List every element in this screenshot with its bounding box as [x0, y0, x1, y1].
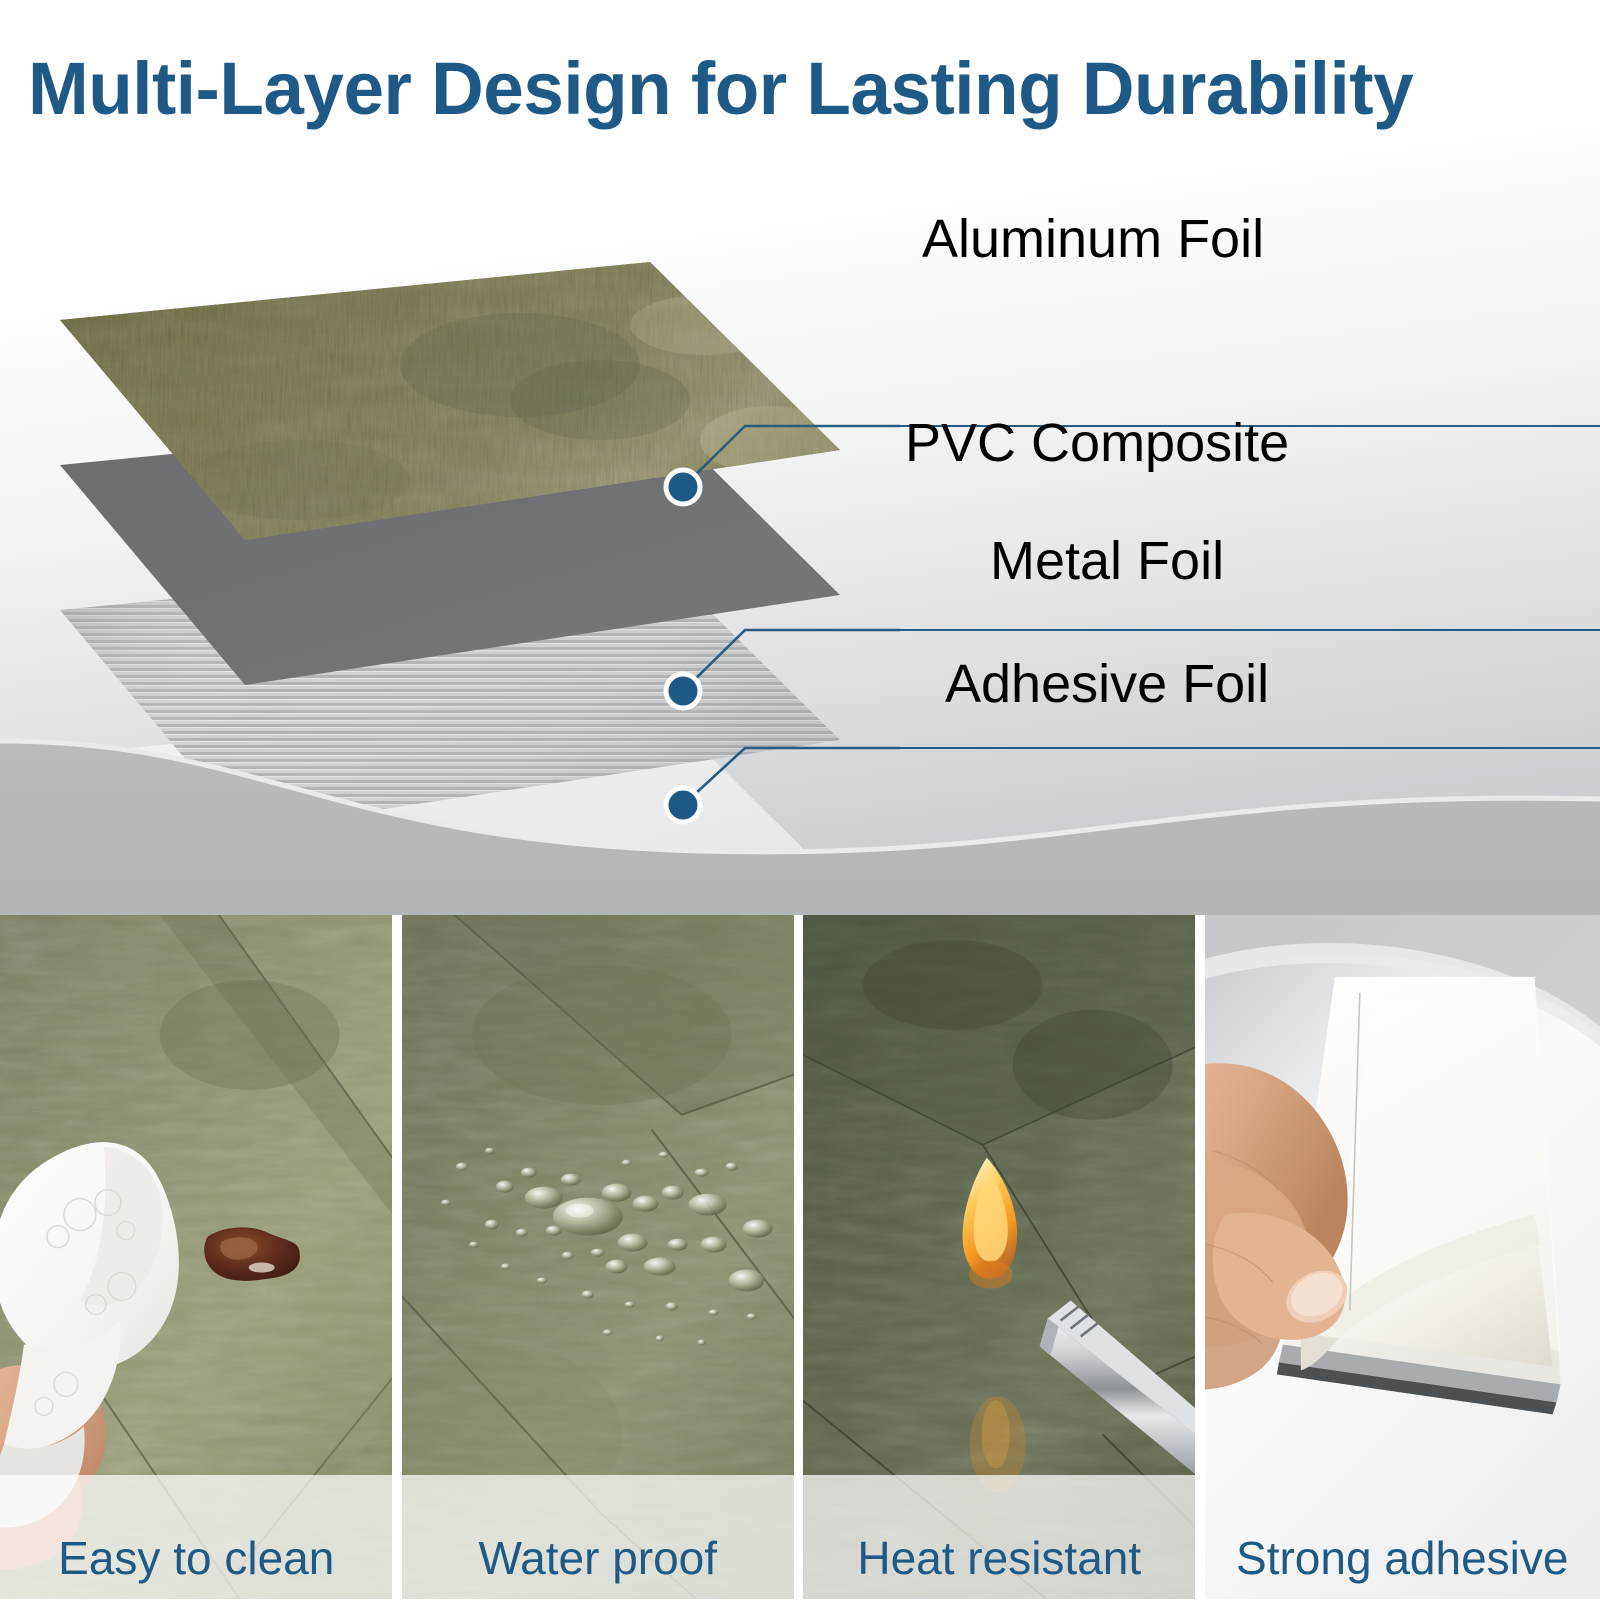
- feature-caption-strong-adhesive: Strong adhesive: [1205, 1530, 1600, 1586]
- callout-rule-pvc-composite: [900, 629, 1600, 631]
- feature-panel-strong-adhesive[interactable]: Strong adhesive: [1205, 915, 1600, 1600]
- feature-caption-heat-resistant: Heat resistant: [803, 1530, 1196, 1586]
- layer-label-adhesive-foil: Adhesive Foil: [945, 653, 1269, 715]
- feature-panel-easy-to-clean[interactable]: Easy to clean: [0, 915, 393, 1600]
- callout-dot-pvc-composite[interactable]: [666, 674, 700, 708]
- callout-dot-aluminum-foil[interactable]: [666, 470, 700, 504]
- feature-caption-easy-to-clean: Easy to clean: [0, 1530, 393, 1586]
- layer-label-pvc-composite: PVC Composite: [905, 412, 1289, 474]
- feature-caption-water-proof: Water proof: [402, 1530, 795, 1586]
- layer-label-metal-foil: Metal Foil: [990, 530, 1224, 592]
- page-title: Multi-Layer Design for Lasting Durabilit…: [28, 46, 1413, 132]
- feature-panel-water-proof[interactable]: Water proof: [402, 915, 795, 1600]
- layer-diagram-section: Multi-Layer Design for Lasting Durabilit…: [0, 0, 1600, 915]
- infographic-page: Multi-Layer Design for Lasting Durabilit…: [0, 0, 1600, 1600]
- layer-label-aluminum-foil: Aluminum Foil: [922, 208, 1264, 270]
- feature-panels: Easy to clean: [0, 915, 1600, 1600]
- feature-panel-heat-resistant[interactable]: Heat resistant: [803, 915, 1196, 1600]
- wave-divider: [0, 727, 1600, 915]
